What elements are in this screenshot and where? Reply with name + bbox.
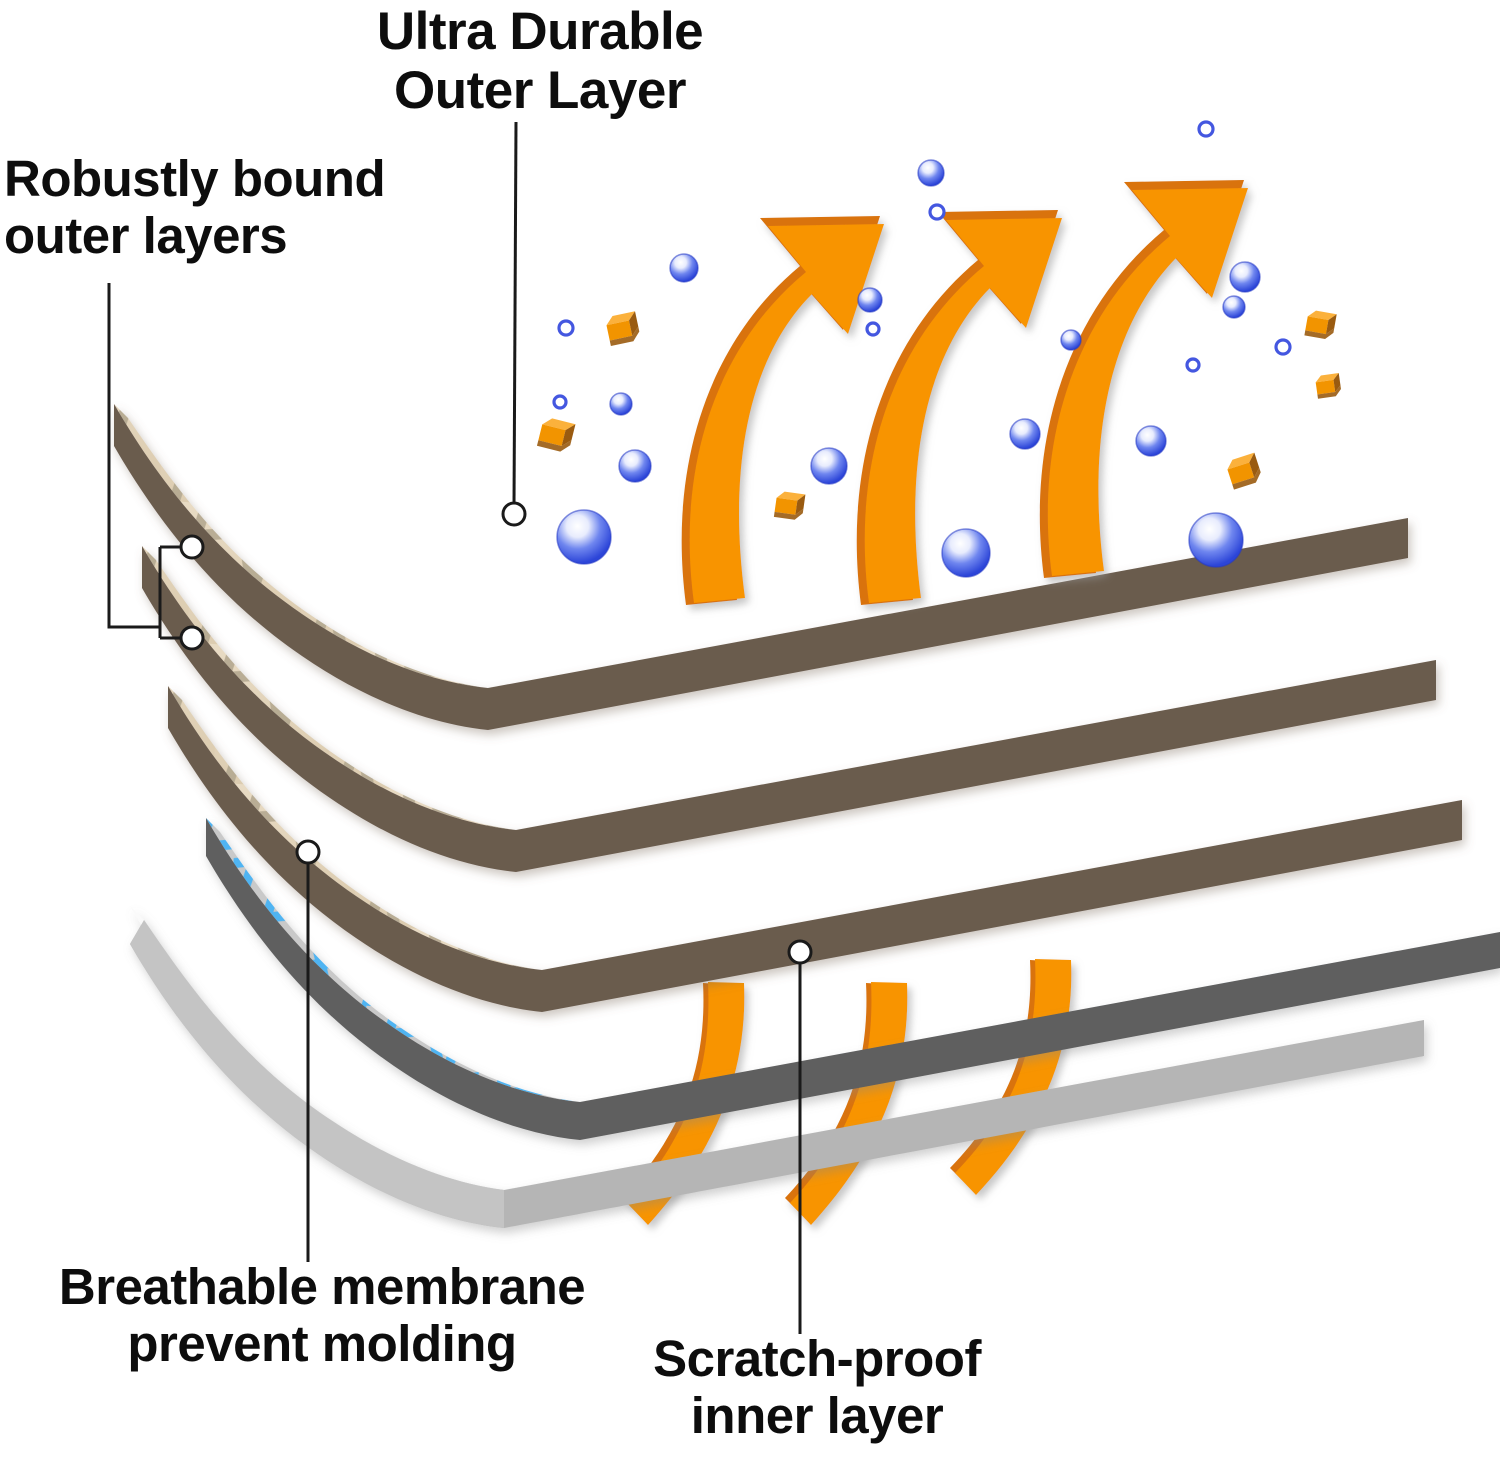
water-droplet-small-icon: [559, 321, 573, 335]
water-droplet-icon: [1061, 330, 1081, 350]
water-droplet-icon: [610, 393, 632, 415]
water-droplet-icon: [942, 529, 990, 577]
water-droplet-icon: [1010, 419, 1040, 449]
water-droplet-icon: [1230, 262, 1260, 292]
water-droplet-small-icon: [1187, 359, 1199, 371]
water-droplet-small-icon: [930, 205, 944, 219]
water-droplet-icon: [1223, 296, 1245, 318]
water-droplet-icon: [670, 254, 698, 282]
water-droplet-icon: [811, 448, 847, 484]
label-ultra-durable-outer-layer: Ultra Durable Outer Layer: [330, 2, 750, 121]
water-droplet-icon: [1189, 513, 1243, 567]
label-robustly-bound-outer-layers: Robustly bound outer layers: [4, 150, 474, 264]
water-droplet-small-icon: [867, 323, 879, 335]
water-droplet-icon: [619, 450, 651, 482]
label-scratch-proof-inner-layer: Scratch-proof inner layer: [592, 1330, 1042, 1444]
water-droplet-icon: [858, 288, 882, 312]
water-droplet-icon: [557, 510, 611, 564]
water-droplet-small-icon: [1199, 122, 1213, 136]
water-droplet-small-icon: [1276, 340, 1290, 354]
water-droplet-icon: [918, 160, 944, 186]
label-breathable-membrane: Breathable membrane prevent molding: [2, 1258, 642, 1372]
water-droplet-small-icon: [554, 396, 566, 408]
water-droplet-icon: [1136, 426, 1166, 456]
